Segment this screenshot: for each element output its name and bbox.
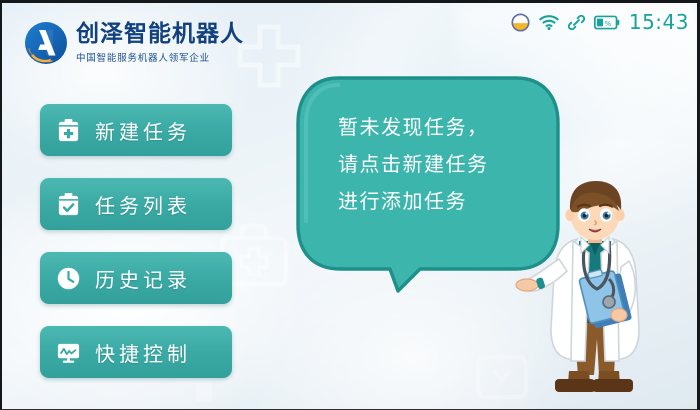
menu-label: 新建任务 [95, 116, 191, 145]
link-icon[interactable] [568, 14, 585, 31]
battery-icon[interactable]: % [594, 15, 620, 30]
menu-label: 历史记录 [95, 264, 191, 293]
clock-icon [56, 266, 81, 291]
menu-label: 快捷控制 [95, 338, 191, 367]
menu-label: 任务列表 [95, 190, 191, 219]
status-bar: % 15:43 [511, 9, 689, 35]
bubble-line-3: 进行添加任务 [338, 183, 548, 220]
circle-swoosh-logo-icon [24, 21, 68, 65]
clipboard-plus-icon [56, 118, 81, 143]
menu-button-new-task[interactable]: 新建任务 [40, 104, 232, 156]
speech-bubble: 暂未发现任务， 请点击新建任务 进行添加任务 [294, 75, 562, 293]
menu-button-history[interactable]: 历史记录 [40, 252, 232, 304]
bubble-line-1: 暂未发现任务， [338, 109, 548, 146]
status-circle-icon[interactable] [511, 13, 530, 32]
menu-button-task-list[interactable]: 任务列表 [40, 178, 232, 230]
app-logo: 创泽智能机器人 中国智能服务机器人领军企业 [24, 21, 244, 65]
app-screen: % 15:43 [0, 0, 700, 410]
menu-button-quick-control[interactable]: 快捷控制 [40, 326, 232, 378]
speech-bubble-text: 暂未发现任务， 请点击新建任务 进行添加任务 [338, 109, 548, 220]
svg-text:%: % [604, 19, 611, 27]
app-title: 创泽智能机器人 [76, 22, 244, 46]
clipboard-check-icon [56, 192, 81, 217]
status-clock-time: 15:43 [629, 10, 689, 34]
main-menu: 新建任务 任务列表 历史记录 [40, 104, 232, 378]
wifi-icon[interactable] [539, 14, 559, 31]
app-subtitle: 中国智能服务机器人领军企业 [76, 50, 244, 64]
monitor-pulse-icon [56, 340, 81, 365]
bubble-line-2: 请点击新建任务 [338, 146, 548, 183]
